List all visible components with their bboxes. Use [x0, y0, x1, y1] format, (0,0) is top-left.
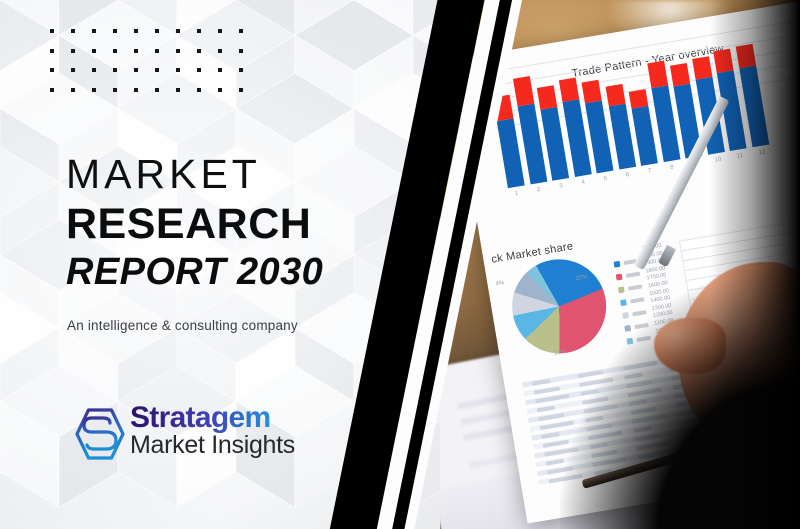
grid-dot [218, 49, 222, 53]
grid-dot [155, 29, 159, 33]
title-line-market: MARKET [66, 150, 396, 199]
page-title: MARKET RESEARCH REPORT 2030 [66, 150, 396, 296]
report-cover: MARKET RESEARCH REPORT 2030 An intellige… [0, 0, 800, 529]
grid-dot [134, 68, 138, 72]
grid-dot [71, 49, 75, 53]
grid-dot [176, 68, 180, 72]
grid-dot [50, 88, 54, 92]
grid-dot [50, 29, 54, 33]
grid-dot [218, 68, 222, 72]
grid-dot [197, 88, 201, 92]
grid-dot [239, 68, 243, 72]
grid-dot [92, 29, 96, 33]
bar-chart-x-tick: 8 [670, 165, 674, 171]
grid-dot [239, 49, 243, 53]
grid-dot [50, 68, 54, 72]
bar-chart-x-tick: 3 [559, 183, 563, 189]
grid-dot [134, 29, 138, 33]
grid-dot [113, 68, 117, 72]
grid-dot [113, 49, 117, 53]
grid-dot [71, 88, 75, 92]
bar-chart-x-tick: 1 [515, 191, 519, 197]
pie-slice-label: 4% [495, 280, 505, 287]
dot-grid-decoration [50, 29, 242, 91]
bar-chart-x-tick: 6 [625, 172, 629, 178]
company-logo: Stratagem Market Insights [72, 402, 302, 466]
title-line-report-2030: REPORT 2030 [66, 249, 396, 296]
grid-dot [155, 68, 159, 72]
bar-chart-x-tick: 2 [537, 187, 541, 193]
grid-dot [134, 49, 138, 53]
grid-dot [134, 88, 138, 92]
grid-dot [218, 88, 222, 92]
bar-chart-x-tick: 4 [581, 179, 585, 185]
grid-dot [50, 49, 54, 53]
grid-dot [176, 49, 180, 53]
grid-dot [218, 29, 222, 33]
logo-subtitle-market-insights: Market Insights [130, 432, 310, 459]
grid-dot [71, 68, 75, 72]
grid-dot [92, 88, 96, 92]
grid-dot [92, 68, 96, 72]
grid-dot [197, 49, 201, 53]
grid-dot [197, 68, 201, 72]
title-line-research: RESEARCH [66, 199, 396, 249]
grid-dot [239, 88, 243, 92]
logo-wordmark-group: Stratagem Market Insights [130, 402, 310, 459]
pie-legend-swatch [614, 261, 621, 268]
bar-chart-x-tick: 5 [603, 176, 607, 182]
stratagem-hexagon-s-icon [72, 405, 128, 463]
tagline: An intelligence & consulting company [67, 318, 298, 333]
logo-wordmark-stratagem: Stratagem [130, 402, 310, 433]
grid-dot [71, 29, 75, 33]
grid-dot [197, 29, 201, 33]
photo-right-vignette [710, 0, 800, 529]
bar-chart-x-tick: 7 [648, 168, 652, 174]
grid-dot [113, 88, 117, 92]
grid-dot [176, 88, 180, 92]
grid-dot [155, 49, 159, 53]
grid-dot [113, 29, 117, 33]
grid-dot [92, 49, 96, 53]
grid-dot [239, 29, 243, 33]
grid-dot [155, 88, 159, 92]
grid-dot [176, 29, 180, 33]
